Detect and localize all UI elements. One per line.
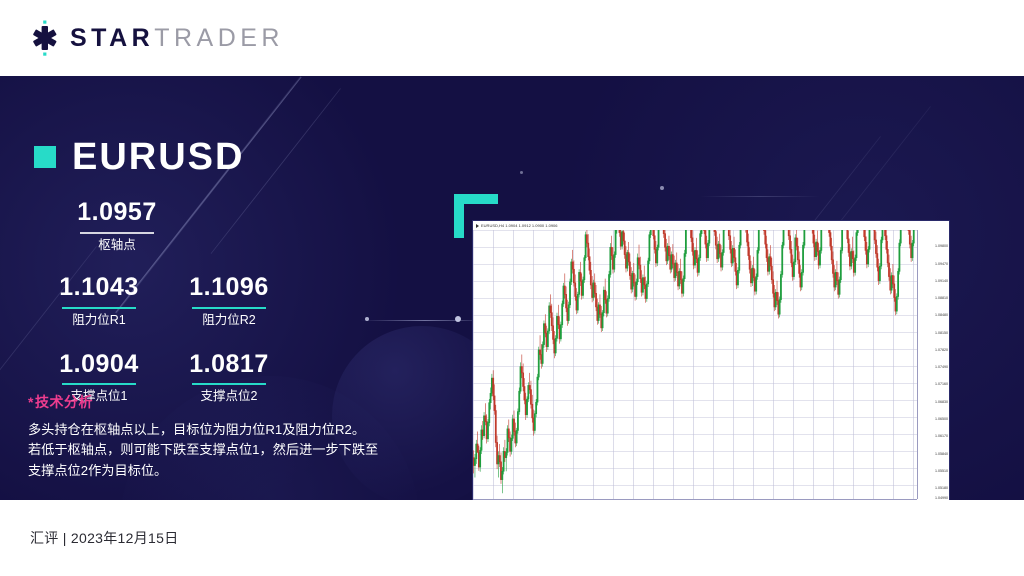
price-tick-label: 1.06170 bbox=[935, 435, 948, 439]
level-r2-label: 阻力位R2 bbox=[164, 313, 294, 328]
price-tick-label: 1.07820 bbox=[935, 349, 948, 353]
level-r1-label: 阻力位R1 bbox=[34, 313, 164, 328]
price-tick-label: 1.08480 bbox=[935, 314, 948, 318]
level-underline bbox=[62, 307, 136, 309]
level-underline bbox=[192, 383, 266, 385]
page-header: STARTRADER bbox=[0, 0, 1024, 76]
price-tick-label: 1.09140 bbox=[935, 280, 948, 284]
instrument-title: EURUSD bbox=[34, 138, 244, 176]
chart-title-bar: EURUSD,H4 1.0904 1.0912 1.0900 1.0906 bbox=[473, 221, 949, 230]
analysis-asterisk: * bbox=[28, 394, 34, 410]
chart-plot-area[interactable] bbox=[473, 230, 917, 499]
analysis-heading: *技术分析 bbox=[28, 392, 398, 412]
level-s1-value: 1.0904 bbox=[34, 350, 164, 379]
price-tick-label: 1.06830 bbox=[935, 401, 948, 405]
price-tick-label: 1.09470 bbox=[935, 263, 948, 267]
instrument-symbol: EURUSD bbox=[72, 138, 244, 176]
main-panel: EURUSD 1.0957 枢轴点 1.1043 阻力位R1 1.1096 阻力… bbox=[0, 76, 1024, 500]
level-s2-value: 1.0817 bbox=[164, 350, 294, 379]
price-tick-label: 1.08810 bbox=[935, 297, 948, 301]
decorative-dot bbox=[365, 317, 369, 321]
brand-logo[interactable]: STARTRADER bbox=[28, 19, 284, 57]
decorative-dot bbox=[455, 316, 461, 322]
analysis-line-1: 多头持仓在枢轴点以上，目标位为阻力位R1及阻力位R2。 bbox=[28, 420, 398, 440]
page-footer: 汇评 | 2023年12月15日 bbox=[0, 500, 1024, 576]
mt4-chart[interactable]: EURUSD,H4 1.0904 1.0912 1.0900 1.0906 1.… bbox=[472, 220, 950, 500]
level-underline bbox=[192, 307, 266, 309]
level-r1-value: 1.1043 bbox=[34, 273, 164, 302]
price-tick-label: 1.07490 bbox=[935, 366, 948, 370]
resistance-row: 1.1043 阻力位R1 1.1096 阻力位R2 bbox=[34, 267, 314, 328]
footer-caption: 汇评 | 2023年12月15日 bbox=[30, 528, 179, 548]
level-pivot: 1.0957 枢轴点 bbox=[52, 192, 182, 253]
level-pivot-value: 1.0957 bbox=[52, 198, 182, 227]
price-tick-label: 1.05840 bbox=[935, 453, 948, 457]
star-asterisk-icon bbox=[28, 19, 62, 57]
brand-wordmark: STARTRADER bbox=[70, 26, 284, 51]
price-tick-label: 1.06500 bbox=[935, 418, 948, 422]
pivot-row: 1.0957 枢轴点 bbox=[34, 192, 314, 253]
chart-price-axis[interactable]: 1.101301.098001.094701.091401.088101.084… bbox=[917, 230, 949, 499]
level-r1: 1.1043 阻力位R1 bbox=[34, 267, 164, 328]
analysis-line-2: 若低于枢轴点，则可能下跌至支撑点位1，然后进一步下跌至 bbox=[28, 440, 398, 460]
title-square-bullet bbox=[34, 146, 56, 168]
level-underline bbox=[80, 232, 154, 234]
price-tick-label: 1.07160 bbox=[935, 383, 948, 387]
level-pivot-label: 枢轴点 bbox=[52, 238, 182, 253]
analysis-heading-text: 技术分析 bbox=[35, 394, 93, 410]
price-tick-label: 1.10130 bbox=[935, 230, 948, 232]
level-r2-value: 1.1096 bbox=[164, 273, 294, 302]
decorative-dot bbox=[520, 171, 523, 174]
decorative-line bbox=[360, 320, 490, 321]
price-tick-label: 1.08150 bbox=[935, 332, 948, 336]
chart-title-text: EURUSD,H4 1.0904 1.0912 1.0900 1.0906 bbox=[481, 223, 558, 228]
analysis-block: *技术分析 多头持仓在枢轴点以上，目标位为阻力位R1及阻力位R2。 若低于枢轴点… bbox=[28, 392, 398, 481]
price-tick-label: 1.05510 bbox=[935, 470, 948, 474]
analysis-line-3: 支撑点位2作为目标位。 bbox=[28, 461, 398, 481]
decorative-line bbox=[700, 196, 820, 197]
levels-block: 1.0957 枢轴点 1.1043 阻力位R1 1.1096 阻力位R2 1.0… bbox=[34, 192, 314, 404]
decorative-dot bbox=[660, 186, 664, 190]
level-underline bbox=[62, 383, 136, 385]
collapse-triangle-icon[interactable] bbox=[476, 224, 479, 228]
level-r2: 1.1096 阻力位R2 bbox=[164, 267, 294, 328]
price-tick-label: 1.09800 bbox=[935, 245, 948, 249]
brand-name-bold: STAR bbox=[70, 24, 154, 52]
brand-name-light: TRADER bbox=[154, 24, 284, 52]
price-tick-label: 1.04990 bbox=[935, 497, 948, 499]
price-tick-label: 1.05180 bbox=[935, 487, 948, 491]
